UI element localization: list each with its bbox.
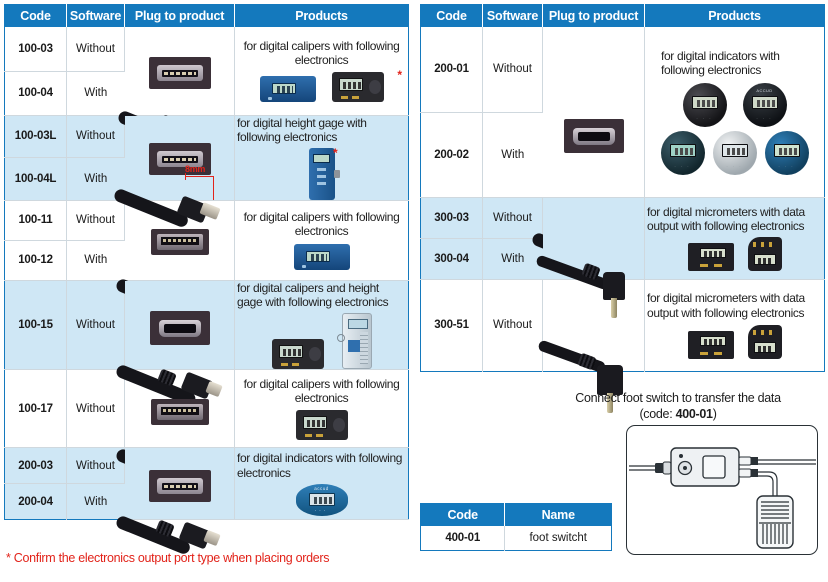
product-description: for digital calipers with following elec…	[237, 39, 406, 67]
table-row: 100-03L Without 8mm	[5, 115, 409, 158]
column-header-software: Software	[483, 5, 543, 28]
cell-products: for digital calipers with following elec…	[235, 200, 409, 280]
product-description: for digital micrometers with data output…	[647, 205, 822, 233]
plug-artwork-mini-usb	[545, 119, 642, 153]
table-row: 100-17 Without for digital calipers with…	[5, 370, 409, 448]
table-row: 100-15 Without for digital calipers and	[5, 280, 409, 369]
caption-prefix: (code:	[639, 407, 675, 421]
product-description: for digital calipers with following elec…	[237, 377, 406, 405]
cell-code: 100-04L	[5, 158, 67, 201]
foot-switch-table: Code Name 400-01 foot switcht	[420, 503, 612, 551]
usb-port-photo	[564, 119, 624, 153]
table-row: 300-51 Without for digital micrometers w…	[421, 279, 825, 371]
cell-plug-image	[125, 448, 235, 520]
device-digital-micrometer-wedge	[748, 237, 782, 271]
product-description: for digital indicators with following el…	[647, 49, 822, 77]
column-header-code: Code	[421, 504, 505, 527]
usb-port-photo	[149, 57, 211, 89]
column-header-products: Products	[645, 5, 825, 28]
table-row: 400-01 foot switcht	[421, 526, 612, 550]
cell-code: 200-02	[421, 112, 483, 197]
cable-options-table-left: Code Software Plug to product Products 1…	[4, 4, 409, 520]
cell-code: 300-51	[421, 279, 483, 371]
usb-port-photo	[151, 399, 209, 425]
cell-software: With	[67, 71, 125, 115]
cell-plug-image: 8mm	[125, 115, 235, 200]
catalog-page: Code Software Plug to product Products 1…	[0, 0, 828, 582]
cell-software: Without	[67, 115, 125, 158]
cell-plug-image	[125, 370, 235, 448]
cell-code: 200-03	[5, 448, 67, 484]
cell-products: for digital calipers with following elec…	[235, 370, 409, 448]
cell-name: foot switcht	[505, 526, 612, 550]
cell-plug-image	[125, 27, 235, 115]
cell-software: With	[67, 484, 125, 520]
table-row: 100-11 Without for digital calipers with…	[5, 200, 409, 240]
caption-code: 400-01	[676, 407, 713, 421]
device-digital-indicator-accud: ACCUD· · ·	[743, 83, 787, 127]
dimension-tick-right	[213, 176, 214, 200]
device-digital-indicator-blue: · · ·	[765, 131, 809, 175]
table-row: 300-03 Without for digital micrometers w…	[421, 197, 825, 238]
cell-products: for digital micrometers with data output…	[645, 197, 825, 279]
footnote-text: * Confirm the electronics output port ty…	[6, 551, 329, 565]
product-description: for digital height gage with following e…	[237, 116, 406, 144]
foot-switch-caption: Connect foot switch to transfer the data…	[530, 390, 826, 423]
cell-code: 200-01	[421, 27, 483, 112]
column-header-products: Products	[235, 5, 409, 28]
caption-suffix: )	[713, 407, 717, 421]
cell-software: Without	[483, 27, 543, 112]
device-digital-indicator-blue: accud···	[296, 484, 348, 516]
cell-products: for digital indicators with following el…	[235, 448, 409, 520]
footnote-asterisk: *	[333, 146, 338, 160]
cell-code: 100-11	[5, 200, 67, 240]
dimension-label-8mm: 8mm	[185, 164, 205, 174]
usb-port-photo	[149, 470, 211, 502]
device-digital-caliper-black	[272, 339, 324, 369]
footnote-asterisk: *	[397, 68, 402, 82]
device-digital-micrometer-wedge	[748, 325, 782, 359]
table-row: 100-03 Without for digital calipers with	[5, 27, 409, 71]
cell-software: With	[483, 112, 543, 197]
cell-software: With	[67, 240, 125, 280]
plug-artwork-usb-wide	[127, 399, 232, 425]
column-header-code: Code	[5, 5, 67, 28]
plug-artwork-usb-micro	[127, 470, 232, 502]
dimension-arrow	[185, 176, 213, 177]
device-digital-caliper-blue	[260, 76, 316, 102]
usb-port-photo	[150, 311, 210, 345]
cell-software: Without	[483, 197, 543, 238]
foot-switch-illustration	[627, 426, 817, 554]
foot-switch-diagram	[626, 425, 818, 555]
column-header-name: Name	[505, 504, 612, 527]
device-digital-caliper-black	[332, 72, 384, 102]
cell-software: Without	[67, 27, 125, 71]
cell-code: 100-12	[5, 240, 67, 280]
cell-plug-image	[125, 280, 235, 369]
table-row: 200-01 Without for digital indicators wi	[421, 27, 825, 112]
column-header-plug: Plug to product	[125, 5, 235, 28]
usb-port-photo	[151, 229, 209, 255]
product-description: for digital calipers with following elec…	[237, 210, 406, 238]
cell-code: 300-03	[421, 197, 483, 238]
table-row: 200-03 Without for digital indicators wi	[5, 448, 409, 484]
dimension-tick-left	[185, 173, 186, 180]
plug-artwork-usb-micro	[127, 57, 232, 89]
cell-products: for digital calipers and height gage wit…	[235, 280, 409, 369]
cell-plug-image	[125, 200, 235, 280]
cell-code: 100-03	[5, 27, 67, 71]
device-digital-indicator-teal: · · ·	[661, 131, 705, 175]
cell-code: 400-01	[421, 526, 505, 550]
device-digital-caliper-blue	[294, 244, 350, 270]
cell-plug-image	[543, 279, 645, 371]
cell-products: for digital height gage with following e…	[235, 115, 409, 200]
device-digital-micrometer-display	[688, 243, 734, 271]
foot-switch-caption-line2: (code: 400-01)	[530, 406, 826, 422]
device-digital-indicator-dark: · · ·	[683, 83, 727, 127]
plug-artwork-usb-micro-long: 8mm	[127, 143, 232, 175]
cell-code: 200-04	[5, 484, 67, 520]
product-description: for digital indicators with following el…	[237, 451, 406, 479]
device-digital-micrometer-display	[688, 331, 734, 359]
device-digital-height-gage-grey	[342, 313, 372, 369]
cell-plug-image	[543, 197, 645, 279]
cell-products: for digital calipers with following elec…	[235, 27, 409, 115]
column-header-software: Software	[67, 5, 125, 28]
device-digital-indicator-light: · · ·	[713, 131, 757, 175]
cell-code: 100-15	[5, 280, 67, 369]
cell-software: Without	[67, 200, 125, 240]
table-header-row: Code Software Plug to product Products	[421, 5, 825, 28]
foot-switch-caption-line1: Connect foot switch to transfer the data	[530, 390, 826, 406]
plug-artwork-usb-wide	[127, 229, 232, 255]
product-description: for digital micrometers with data output…	[647, 291, 822, 319]
cable-options-table-right: Code Software Plug to product Products 2…	[420, 4, 825, 372]
cell-software: Without	[67, 370, 125, 448]
table-header-row: Code Name	[421, 504, 612, 527]
cell-software: Without	[67, 280, 125, 369]
cell-code: 100-04	[5, 71, 67, 115]
cell-code: 100-17	[5, 370, 67, 448]
column-header-plug: Plug to product	[543, 5, 645, 28]
device-digital-height-gage	[309, 148, 335, 200]
cell-products: for digital indicators with following el…	[645, 27, 825, 197]
cell-code: 100-03L	[5, 115, 67, 158]
device-digital-caliper-black	[296, 410, 348, 440]
cell-code: 300-04	[421, 238, 483, 279]
table-header-row: Code Software Plug to product Products	[5, 5, 409, 28]
cell-software: Without	[483, 279, 543, 371]
product-description: for digital calipers and height gage wit…	[237, 281, 406, 309]
cell-products: for digital micrometers with data output…	[645, 279, 825, 371]
column-header-code: Code	[421, 5, 483, 28]
plug-artwork-mini-usb	[127, 311, 232, 345]
cell-plug-image	[543, 27, 645, 197]
